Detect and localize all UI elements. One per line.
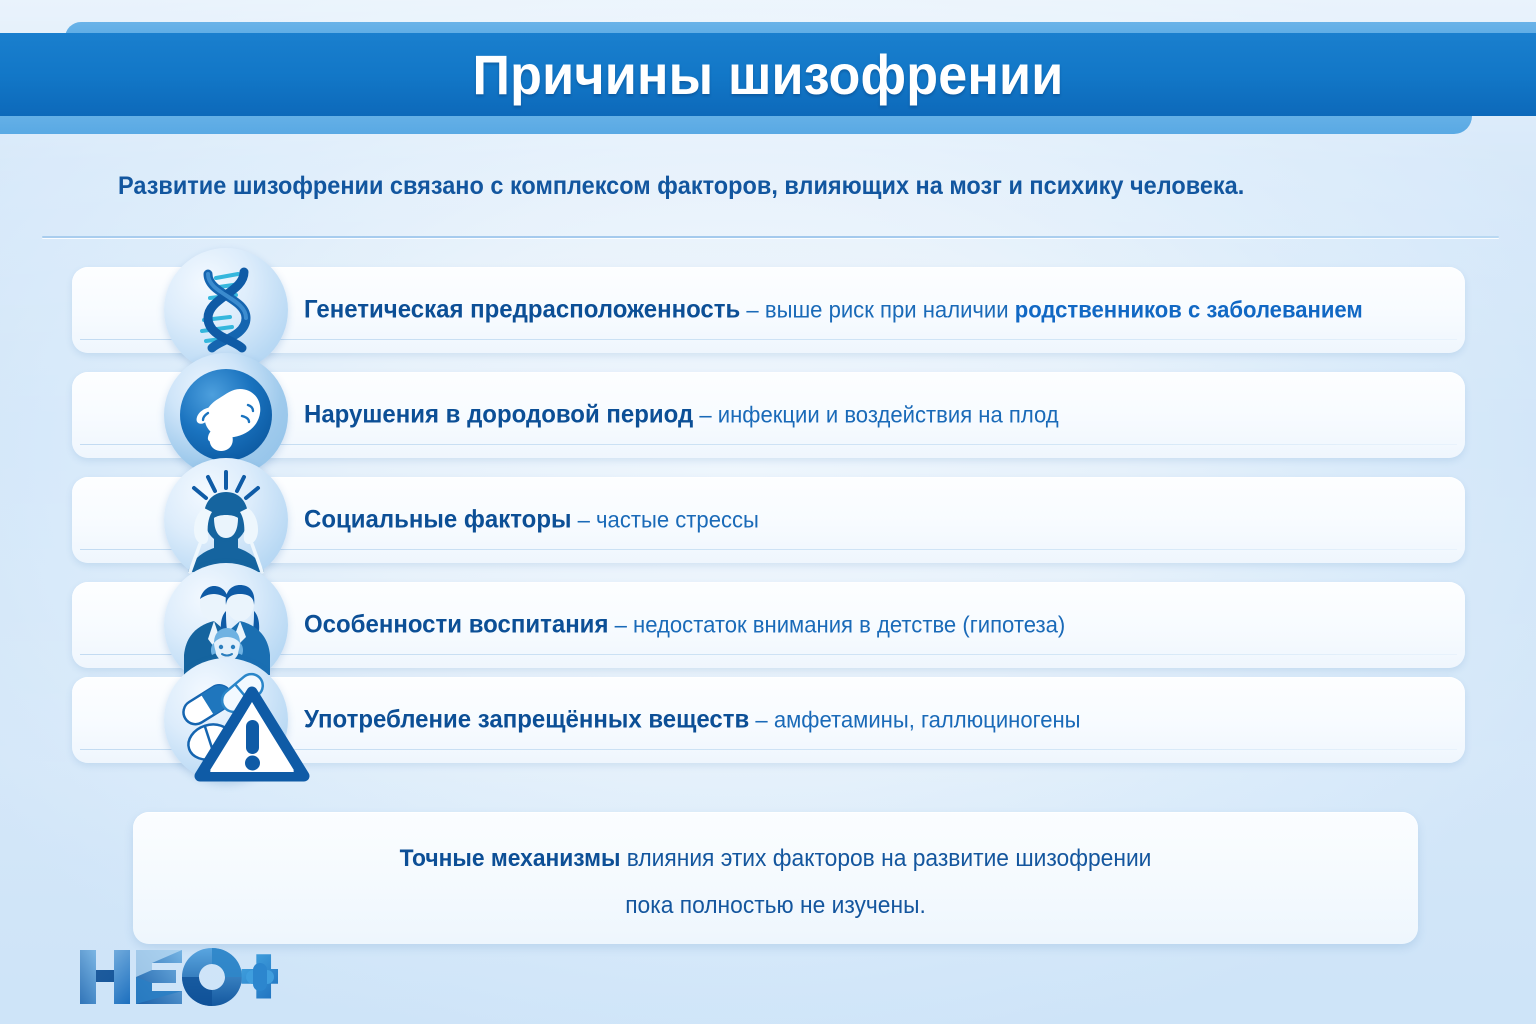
row-desc: выше риск при наличии [765, 297, 1015, 323]
pills-warning-icon [164, 658, 288, 782]
row-text: Социальные факторы – частые стрессы [304, 506, 759, 535]
infographic-canvas: Причины шизофрении Развитие шизофрении с… [0, 0, 1536, 1024]
row-dash: – [571, 507, 596, 533]
conclusion-strong: Точные механизмы [400, 845, 621, 872]
list-item[interactable]: Генетическая предрасположенность – выше … [72, 267, 1465, 353]
row-title: Употребление запрещённых веществ [304, 706, 749, 734]
row-title: Социальные факторы [304, 506, 571, 534]
list-item[interactable]: Нарушения в дородовой период – инфекции … [72, 372, 1465, 458]
conclusion-box: Точные механизмы влияния этих факторов н… [133, 812, 1418, 944]
row-title: Особенности воспитания [304, 611, 608, 639]
row-desc: частые стрессы [596, 507, 759, 533]
list-item[interactable]: Употребление запрещённых веществ – амфет… [72, 677, 1465, 763]
row-dash: – [740, 297, 765, 323]
list-item[interactable]: Особенности воспитания – недостаток вним… [72, 582, 1465, 668]
neo-plus-logo-glyph [78, 946, 278, 1008]
row-title: Генетическая предрасположенность [304, 296, 740, 324]
row-text: Употребление запрещённых веществ – амфет… [304, 706, 1081, 735]
conclusion-line-2: пока полностью не изучены. [165, 892, 1386, 920]
brand-logo[interactable] [78, 946, 278, 1008]
row-text: Особенности воспитания – недостаток вним… [304, 611, 1065, 640]
row-desc: недостаток внимания в детстве (гипотеза) [633, 612, 1065, 638]
row-title: Нарушения в дородовой период [304, 401, 693, 429]
row-dash: – [693, 402, 718, 428]
row-dash: – [608, 612, 633, 638]
row-desc: амфетамины, галлюциногены [774, 707, 1081, 733]
row-desc-highlight: родственников с заболеванием [1015, 297, 1363, 323]
row-desc: инфекции и воздействия на плод [718, 402, 1059, 428]
row-text: Нарушения в дородовой период – инфекции … [304, 401, 1059, 430]
row-text: Генетическая предрасположенность – выше … [304, 296, 1363, 325]
row-dash: – [749, 707, 774, 733]
conclusion-line-1: Точные механизмы влияния этих факторов н… [165, 845, 1386, 873]
pills-warning-glyph [164, 658, 288, 782]
list-item[interactable]: Социальные факторы – частые стрессы [72, 477, 1465, 563]
conclusion-rest: влияния этих факторов на развитие шизофр… [620, 845, 1151, 872]
